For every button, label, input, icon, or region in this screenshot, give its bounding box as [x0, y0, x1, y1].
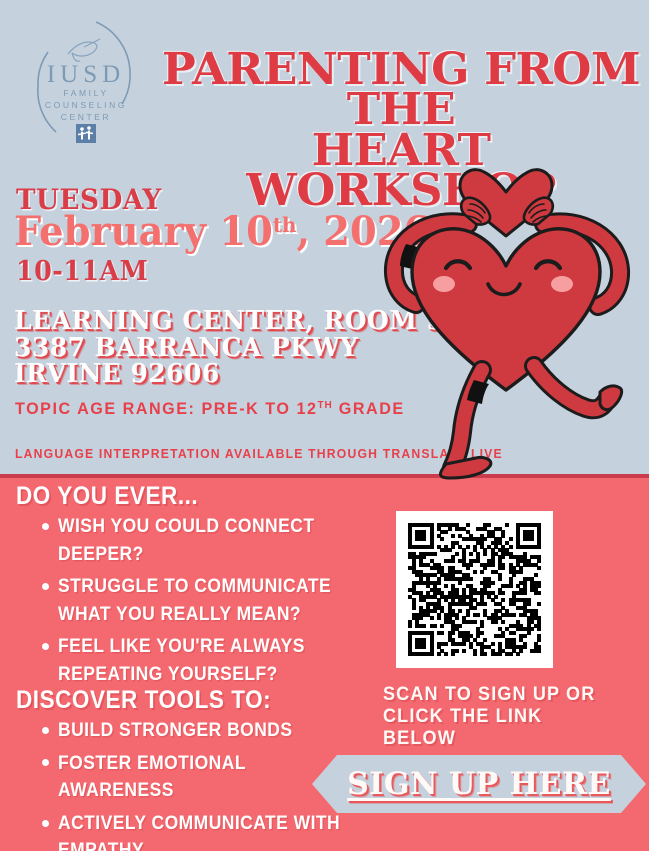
sign-up-here-label[interactable]: SIGN UP HERE [347, 766, 611, 802]
scan-line-2: CLICK THE LINK BELOW [383, 706, 611, 750]
heart-mascot-illustration [372, 158, 642, 480]
iusd-family-counseling-center-logo: IUSD FAMILY COUNSELING CENTER [26, 14, 146, 146]
questions-list: WISH YOU COULD CONNECT DEEPER? STRUGGLE … [18, 513, 388, 693]
question-item-2: STRUGGLE TO COMMUNICATE WHAT YOU REALLY … [58, 573, 362, 628]
questions-heading: DO YOU EVER... [16, 482, 198, 511]
tool-item-1: BUILD STRONGER BONDS [58, 717, 293, 745]
tools-heading: DISCOVER TOOLS TO: [16, 686, 271, 715]
svg-text:IUSD: IUSD [47, 61, 125, 88]
question-item-3: FEEL LIKE YOU'RE ALWAYS REPEATING YOURSE… [58, 633, 362, 688]
qr-code[interactable] [396, 511, 553, 668]
svg-text:COUNSELING: COUNSELING [45, 100, 127, 110]
event-date-ordinal: th [273, 212, 297, 237]
tool-item-3: ACTIVELY COMMUNICATE WITH EMPATHY [58, 810, 362, 851]
sign-up-here-button[interactable]: SIGN UP HERE [312, 755, 646, 813]
flyer-canvas: IUSD FAMILY COUNSELING CENTER PARENTING … [0, 0, 649, 851]
title-line-1: PARENTING FROM THE [150, 50, 649, 131]
event-time: 10-11AM [16, 256, 148, 287]
question-item-1: WISH YOU COULD CONNECT DEEPER? [58, 513, 362, 568]
list-item: BUILD STRONGER BONDS [58, 717, 388, 745]
age-range-prefix: TOPIC AGE RANGE: PRE-K TO 12 [15, 399, 318, 418]
list-item: FEEL LIKE YOU'RE ALWAYS REPEATING YOURSE… [58, 633, 388, 688]
list-item: WISH YOU COULD CONNECT DEEPER? [58, 513, 388, 568]
svg-text:FAMILY: FAMILY [63, 88, 108, 98]
list-item: STRUGGLE TO COMMUNICATE WHAT YOU REALLY … [58, 573, 388, 628]
tool-item-2: FOSTER EMOTIONAL AWARENESS [58, 750, 362, 805]
svg-text:CENTER: CENTER [61, 112, 112, 122]
topic-age-range: TOPIC AGE RANGE: PRE-K TO 12TH GRADE [15, 399, 405, 419]
scan-line-1: SCAN TO SIGN UP OR [383, 684, 611, 706]
list-item: ACTIVELY COMMUNICATE WITH EMPATHY [58, 810, 388, 851]
scan-instructions: SCAN TO SIGN UP OR CLICK THE LINK BELOW [383, 684, 623, 750]
event-date: February 10th, 2026 [14, 208, 430, 255]
qr-code-image[interactable] [408, 523, 541, 656]
age-range-ordinal: TH [318, 399, 333, 411]
event-date-main: February 10 [14, 208, 273, 255]
